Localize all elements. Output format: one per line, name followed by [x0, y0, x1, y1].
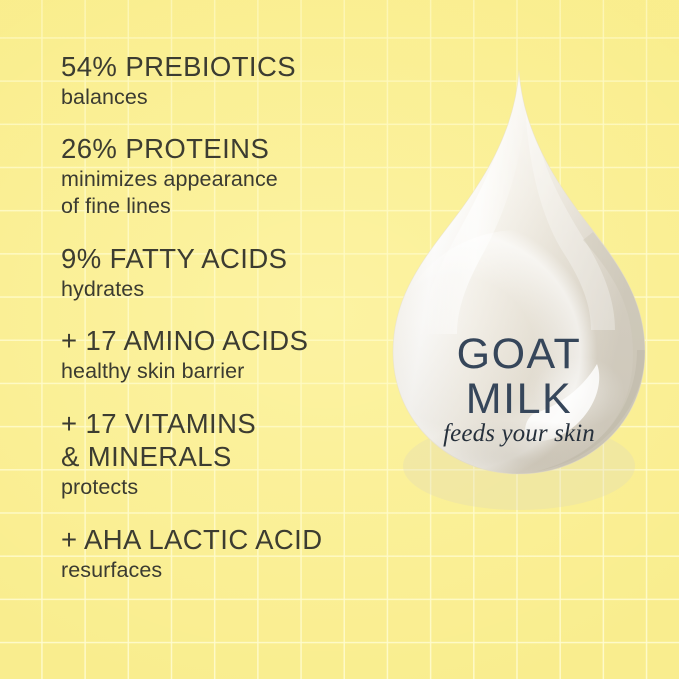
ingredient-benefit: balances — [61, 84, 391, 111]
ingredient-title: 9% FATTY ACIDS — [61, 242, 391, 275]
infographic-canvas: 54% PREBIOTICS balances 26% PROTEINS min… — [0, 0, 679, 679]
ingredient-title: + 17 AMINO ACIDS — [61, 324, 391, 357]
ingredient-title: + AHA LACTIC ACID — [61, 523, 391, 556]
ingredient-title: 26% PROTEINS — [61, 132, 391, 165]
ingredient-benefit: minimizes appearance of fine lines — [61, 166, 391, 220]
ingredient-list: 54% PREBIOTICS balances 26% PROTEINS min… — [61, 50, 391, 584]
milk-droplet-illustration — [383, 62, 655, 552]
ingredient-item: + AHA LACTIC ACID resurfaces — [61, 523, 391, 584]
ingredient-title: + 17 VITAMINS & MINERALS — [61, 407, 391, 473]
ingredient-benefit: healthy skin barrier — [61, 358, 391, 385]
ingredient-benefit: resurfaces — [61, 557, 391, 584]
ingredient-item: + 17 VITAMINS & MINERALS protects — [61, 407, 391, 501]
ingredient-item: 54% PREBIOTICS balances — [61, 50, 391, 111]
ingredient-item: 26% PROTEINS minimizes appearance of fin… — [61, 132, 391, 220]
ingredient-item: 9% FATTY ACIDS hydrates — [61, 242, 391, 303]
ingredient-title: 54% PREBIOTICS — [61, 50, 391, 83]
ingredient-item: + 17 AMINO ACIDS healthy skin barrier — [61, 324, 391, 385]
ingredient-benefit: hydrates — [61, 276, 391, 303]
ingredient-benefit: protects — [61, 474, 391, 501]
